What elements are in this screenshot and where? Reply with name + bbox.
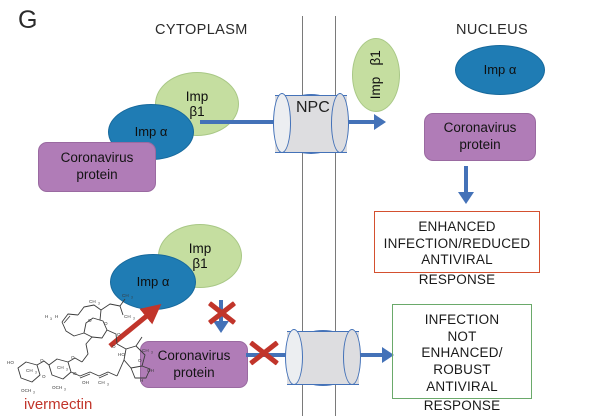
coronavirus-protein-box-nucleus: Coronavirus protein — [424, 113, 536, 161]
svg-text:CH: CH — [142, 348, 149, 353]
svg-text:H: H — [55, 314, 58, 319]
svg-text:O: O — [138, 358, 142, 363]
svg-text:3: 3 — [151, 351, 153, 355]
svg-text:O: O — [104, 321, 108, 326]
imp-beta1-pore-line2: β1 — [368, 50, 383, 65]
svg-text:3: 3 — [33, 391, 35, 395]
outcome-robust-line6: RESPONSE — [393, 398, 531, 415]
coronavirus-protein-line2: protein — [61, 167, 134, 184]
npc-bottom-cap-right — [343, 329, 361, 385]
imp-beta1-bottom-line2: β1 — [189, 256, 212, 271]
svg-text:CH: CH — [89, 299, 96, 304]
coronavirus-protein-nuc-line2: protein — [444, 137, 517, 154]
outcome-arrow-enhanced-head — [458, 192, 474, 204]
outcome-robust-line5: ANTIVIRAL — [393, 379, 531, 396]
svg-text:H: H — [140, 378, 143, 383]
panel-letter: G — [18, 8, 37, 33]
outcome-robust-line2: NOT — [393, 329, 531, 346]
red-x-blocked-import-icon — [247, 337, 281, 369]
svg-text:3: 3 — [35, 371, 37, 375]
outcome-enhanced-line2: INFECTION/REDUCED — [375, 236, 539, 253]
svg-text:CH: CH — [26, 368, 33, 373]
svg-text:3: 3 — [66, 368, 68, 372]
outcome-enhanced-line1: ENHANCED — [375, 219, 539, 236]
svg-text:HO: HO — [118, 352, 125, 357]
svg-text:H: H — [45, 314, 48, 319]
svg-text:O: O — [117, 332, 121, 337]
svg-text:O: O — [73, 371, 77, 376]
svg-text:OH: OH — [82, 380, 89, 385]
nuclear-pore-complex-bottom — [286, 330, 360, 386]
svg-text:CH: CH — [122, 293, 129, 298]
nuclear-import-arrow-top-head — [374, 114, 386, 130]
nucleus-label: NUCLEUS — [456, 22, 528, 38]
outcome-box-enhanced-infection: ENHANCED INFECTION/REDUCED ANTIVIRAL RES… — [374, 211, 540, 273]
svg-text:3: 3 — [133, 317, 135, 321]
svg-text:O: O — [88, 318, 92, 323]
imp-beta1-bottom-line1: Imp — [189, 241, 212, 256]
npc-top-cap-right — [331, 93, 349, 153]
svg-text:OCH: OCH — [21, 388, 31, 393]
svg-text:3: 3 — [50, 317, 52, 321]
imp-beta1-line1: Imp — [186, 89, 209, 104]
outcome-arrow-enhanced — [464, 166, 468, 194]
svg-text:CH: CH — [124, 314, 131, 319]
svg-text:3: 3 — [107, 383, 109, 387]
outcome-enhanced-line4: RESPONSE — [375, 272, 539, 289]
coronavirus-protein-line1: Coronavirus — [61, 150, 134, 167]
svg-text:O: O — [71, 355, 75, 360]
figure-panel-g: G CYTOPLASM NUCLEUS Imp β1 Imp α Coronav… — [0, 0, 600, 416]
svg-text:OH: OH — [147, 368, 154, 373]
svg-text:3: 3 — [64, 388, 66, 392]
svg-text:HO: HO — [7, 360, 14, 365]
svg-text:3: 3 — [98, 302, 100, 306]
outcome-robust-line1: INFECTION — [393, 312, 531, 329]
svg-text:3: 3 — [131, 296, 133, 300]
imp-beta1-ellipse-pore: Imp β1 — [352, 38, 400, 112]
svg-text:OCH: OCH — [52, 385, 62, 390]
coronavirus-protein-box-top: Coronavirus protein — [38, 142, 156, 192]
imp-beta1-pore-line1: Imp — [368, 77, 383, 100]
ivermectin-chemical-structure: HO CH3 CH3 OCH3 OCH3 O O O O H3 H CH3 CH… — [4, 292, 156, 396]
outcome-box-robust-response: INFECTION NOT ENHANCED/ ROBUST ANTIVIRAL… — [392, 304, 532, 399]
cytoplasm-label: CYTOPLASM — [155, 22, 248, 38]
svg-text:CH: CH — [98, 380, 105, 385]
svg-text:O: O — [112, 344, 116, 349]
npc-label: NPC — [296, 99, 330, 117]
svg-text:CH: CH — [57, 365, 64, 370]
svg-text:O: O — [42, 374, 46, 379]
outcome-robust-line3: ENHANCED/ — [393, 345, 531, 362]
imp-beta1-line2: β1 — [186, 104, 209, 119]
imp-alpha-ellipse-nucleus: Imp α — [455, 45, 545, 95]
coronavirus-protein-bottom-line1: Coronavirus — [158, 348, 231, 365]
outcome-robust-line4: ROBUST — [393, 362, 531, 379]
coronavirus-protein-nuc-line1: Coronavirus — [444, 120, 517, 137]
svg-text:O: O — [40, 358, 44, 363]
coronavirus-protein-bottom-line2: protein — [158, 365, 231, 382]
red-x-blocked-complex-icon — [206, 298, 238, 328]
outcome-enhanced-line3: ANTIVIRAL — [375, 252, 539, 269]
ivermectin-label: ivermectin — [24, 396, 92, 413]
